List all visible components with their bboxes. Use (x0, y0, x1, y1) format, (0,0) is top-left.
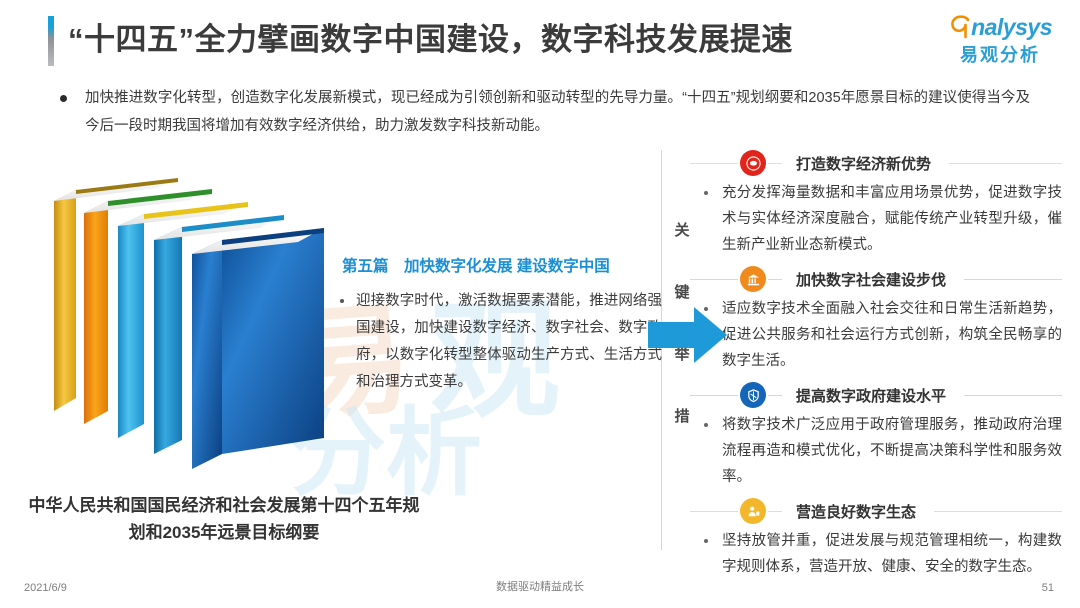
measure-title: 营造良好数字生态 (796, 501, 916, 522)
slide-canvas: 易 观 分析 “十四五”全力擘画数字中国建设，数字科技发展提速 nalysys … (0, 0, 1080, 608)
books-caption: 中华人民共和国国民经济和社会发展第十四个五年规划和2035年远景目标纲要 (24, 492, 424, 546)
measure-header: 提高数字政府建设水平 (690, 380, 1062, 410)
person-icon (740, 498, 766, 524)
measure-header: 打造数字经济新优势 (690, 148, 1062, 178)
measure-header: 营造良好数字生态 (690, 496, 1062, 526)
measure-section: 提高数字政府建设水平 将数字技术广泛应用于政府管理服务，推动政府治理流程再造和模… (690, 380, 1062, 490)
measure-title: 加快数字社会建设步伐 (796, 269, 946, 290)
measure-section: 加快数字社会建设步伐 适应数字技术全面融入社会交往和日常生活新趋势，促进公共服务… (690, 264, 1062, 374)
intro-text: 加快推进数字化转型，创造数字化发展新模式，现已经成为引领创新和驱动转型的先导力量… (85, 84, 1030, 140)
measure-body: 适应数字技术全面融入社会交往和日常生活新趋势，促进公共服务和社会运行方式创新，构… (690, 296, 1062, 374)
rule-left (690, 511, 738, 512)
logo-chinese-name: 易观分析 (948, 41, 1052, 67)
bullet-dot-icon (704, 539, 708, 543)
measure-text: 充分发挥海量数据和丰富应用场景优势，促进数字技术与实体经济深度融合，赋能传统产业… (722, 180, 1062, 258)
rule-right (949, 163, 1062, 164)
chapter-body-text: 迎接数字时代，激活数据要素潜能，推进网络强国建设，加快建设数字经济、数字社会、数… (356, 288, 662, 396)
books-illustration (46, 166, 336, 486)
rule-accent (768, 395, 782, 396)
bullet-dot-icon (704, 191, 708, 195)
rule-right (964, 279, 1062, 280)
measure-section: 营造良好数字生态 坚持放管并重，促进发展与规范管理相统一，构建数字规则体系，营造… (690, 496, 1062, 580)
rule-left (690, 163, 738, 164)
measure-section: 打造数字经济新优势 充分发挥海量数据和丰富应用场景优势，促进数字技术与实体经济深… (690, 148, 1062, 258)
title-accent-bar (48, 16, 54, 66)
measure-text: 坚持放管并重，促进发展与规范管理相统一，构建数字规则体系，营造开放、健康、安全的… (722, 528, 1062, 580)
medal-icon (740, 150, 766, 176)
bullet-dot-icon (340, 299, 344, 303)
measure-body: 充分发挥海量数据和丰富应用场景优势，促进数字技术与实体经济深度融合，赋能传统产业… (690, 180, 1062, 258)
chapter-body: 迎接数字时代，激活数据要素潜能，推进网络强国建设，加快建设数字经济、数字社会、数… (340, 288, 662, 396)
chapter-heading: 第五篇 加快数字化发展 建设数字中国 (342, 254, 658, 276)
rule-right (964, 395, 1062, 396)
rule-left (690, 395, 738, 396)
bank-icon (740, 266, 766, 292)
rule-accent (768, 511, 782, 512)
key-measures-list: 打造数字经济新优势 充分发挥海量数据和丰富应用场景优势，促进数字技术与实体经济深… (690, 148, 1062, 586)
page-title: “十四五”全力擘画数字中国建设，数字科技发展提速 (68, 14, 793, 59)
measure-text: 将数字技术广泛应用于政府管理服务，推动政府治理流程再造和模式优化，不断提高决策科… (722, 412, 1062, 490)
measure-title: 打造数字经济新优势 (796, 153, 931, 174)
measure-body: 坚持放管并重，促进发展与规范管理相统一，构建数字规则体系，营造开放、健康、安全的… (690, 528, 1062, 580)
rule-right (934, 511, 1062, 512)
brand-logo: nalysys 易观分析 (948, 14, 1052, 67)
logo-wordmark: nalysys (971, 14, 1052, 41)
measure-text: 适应数字技术全面融入社会交往和日常生活新趋势，促进公共服务和社会运行方式创新，构… (722, 296, 1062, 374)
measure-body: 将数字技术广泛应用于政府管理服务，推动政府治理流程再造和模式优化，不断提高决策科… (690, 412, 1062, 490)
intro-paragraph: 加快推进数字化转型，创造数字化发展新模式，现已经成为引领创新和驱动转型的先导力量… (60, 84, 1030, 140)
rule-accent (768, 279, 782, 280)
rule-accent (768, 163, 782, 164)
rule-left (690, 279, 738, 280)
shield-icon (740, 382, 766, 408)
measure-title: 提高数字政府建设水平 (796, 385, 946, 406)
right-arrow-icon (648, 305, 728, 370)
footer-page-number: 51 (1042, 582, 1054, 594)
bullet-dot-icon (60, 95, 67, 102)
footer-slogan: 数据驱动精益成长 (0, 578, 1080, 594)
bullet-dot-icon (704, 423, 708, 427)
measure-header: 加快数字社会建设步伐 (690, 264, 1062, 294)
